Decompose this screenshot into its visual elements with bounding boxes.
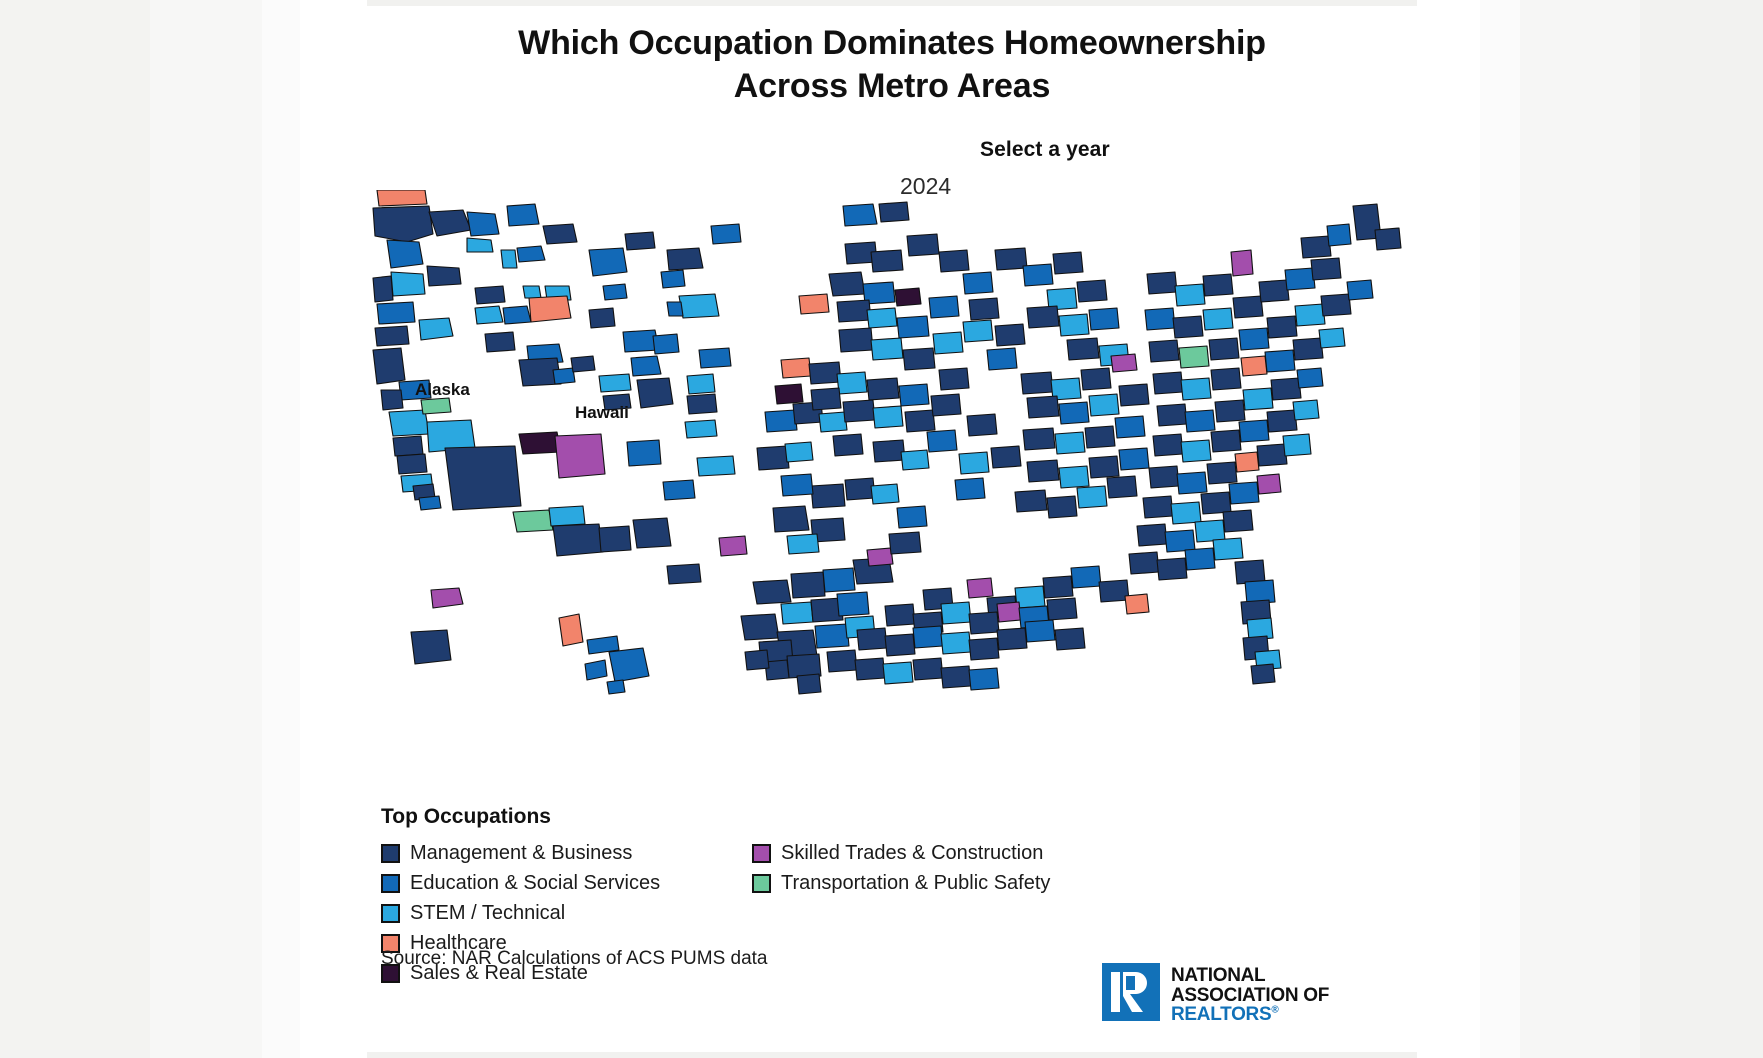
legend-item-education-social-services[interactable]: Education & Social Services: [381, 868, 660, 898]
nar-logo-line-3: REALTORS®: [1171, 1005, 1329, 1025]
legend-item-label: Education & Social Services: [410, 872, 660, 895]
page-title: Which Occupation Dominates Homeownership…: [367, 22, 1417, 107]
legend-item-label: Transportation & Public Safety: [781, 872, 1050, 895]
legend-item-transportation-public-safety[interactable]: Transportation & Public Safety: [752, 868, 1050, 898]
source-note: Source: NAR Calculations of ACS PUMS dat…: [381, 948, 768, 970]
card-top-divider: [367, 0, 1417, 6]
nar-logo-realtors-text: REALTORS: [1171, 1004, 1271, 1025]
nar-logo: NATIONAL ASSOCIATION OF REALTORS®: [1102, 963, 1329, 1025]
registered-mark-icon: ®: [1271, 1005, 1278, 1016]
legend-item-management-business[interactable]: Management & Business: [381, 838, 660, 868]
nar-logo-wordmark: NATIONAL ASSOCIATION OF REALTORS®: [1171, 963, 1329, 1025]
legend-item-label: Skilled Trades & Construction: [781, 842, 1043, 865]
map-legend: Top Occupations Management & Business Ed…: [381, 805, 1381, 968]
legend-swatch-icon: [381, 874, 400, 893]
legend-item-label: STEM / Technical: [410, 902, 565, 925]
legend-swatch-icon: [381, 904, 400, 923]
legend-title: Top Occupations: [381, 805, 1381, 829]
metro-choropleth-map[interactable]: Alaska Hawaii: [367, 190, 1417, 710]
map-svg[interactable]: [367, 190, 1417, 710]
nar-logo-line-1: NATIONAL: [1171, 966, 1329, 986]
page-title-line-1: Which Occupation Dominates Homeownership: [367, 22, 1417, 65]
map-inset-label-alaska: Alaska: [415, 380, 470, 400]
card-bottom-divider: [367, 1052, 1417, 1058]
legend-swatch-icon: [752, 844, 771, 863]
map-regions[interactable]: [373, 190, 1401, 694]
legend-item-skilled-trades-construction[interactable]: Skilled Trades & Construction: [752, 838, 1050, 868]
legend-item-stem-technical[interactable]: STEM / Technical: [381, 898, 660, 928]
nar-logo-mark-icon: [1102, 963, 1160, 1021]
page-title-line-2: Across Metro Areas: [367, 65, 1417, 108]
nar-logo-line-2: ASSOCIATION OF: [1171, 986, 1329, 1006]
year-selector-label: Select a year: [980, 138, 1300, 162]
map-inset-label-hawaii: Hawaii: [575, 403, 629, 423]
legend-column-right: Skilled Trades & Construction Transporta…: [752, 838, 1050, 898]
legend-swatch-icon: [752, 874, 771, 893]
screenshot-page: Which Occupation Dominates Homeownership…: [0, 0, 1763, 1058]
legend-swatch-icon: [381, 844, 400, 863]
legend-item-label: Management & Business: [410, 842, 632, 865]
